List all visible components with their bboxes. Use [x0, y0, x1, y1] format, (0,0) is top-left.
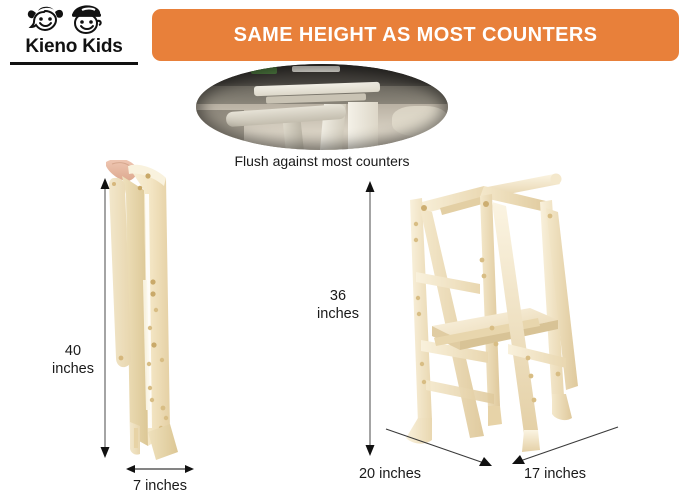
photo-vignette [196, 64, 448, 150]
height-label-40-unit: inches [52, 361, 94, 377]
height-label-40-value: 40 [65, 343, 81, 359]
brand-name: Kieno Kids [6, 36, 142, 58]
height-label-36: 36 inches [303, 288, 373, 323]
two-kids-faces-icon [22, 4, 132, 38]
width-label-7: 7 inches [110, 478, 210, 496]
height-label-40: 40 inches [38, 343, 108, 378]
headline-banner: SAME HEIGHT AS MOST COUNTERS [152, 9, 679, 61]
photo-caption: Flush against most counters [196, 153, 448, 169]
height-label-36-value: 36 [330, 288, 346, 304]
counter-photo [196, 64, 448, 150]
width-dimension-arrow-7 [125, 462, 195, 476]
headline-text: SAME HEIGHT AS MOST COUNTERS [234, 24, 598, 47]
height-label-36-unit: inches [317, 306, 359, 322]
brand-underline [10, 62, 138, 65]
open-tower-illustration [388, 168, 618, 458]
height-dimension-arrow-40 [95, 176, 115, 460]
folded-tower-illustration [104, 160, 216, 460]
brand-logo: Kieno Kids [6, 4, 142, 70]
depth-label-20: 20 inches [330, 466, 450, 484]
width-label-17: 17 inches [495, 466, 615, 484]
base-dimension-arrows [380, 425, 670, 470]
